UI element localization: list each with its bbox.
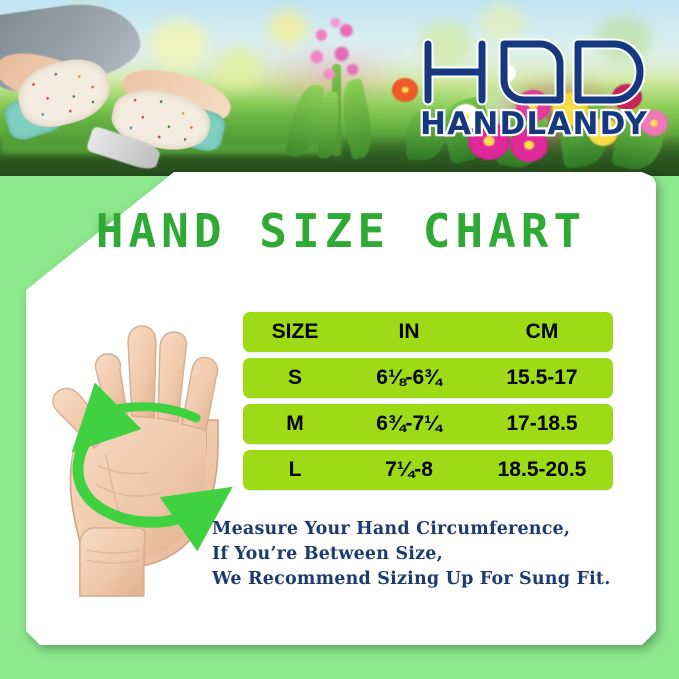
cell-cm: 18.5-20.5 xyxy=(471,458,613,482)
table-row: M 6¾-7¼ 17-18.5 xyxy=(243,404,613,444)
header-in: IN xyxy=(347,320,471,344)
cell-cm: 15.5-17 xyxy=(471,366,613,390)
note-line-1: Measure Your Hand Circumference, xyxy=(212,517,642,542)
note-line-3: We Recommend Sizing Up For Sung Fit. xyxy=(212,567,642,592)
table-row: S 6⅛-6¾ 15.5-17 xyxy=(243,358,613,398)
measurement-note: Measure Your Hand Circumference, If You’… xyxy=(212,517,642,592)
cell-size: S xyxy=(243,366,347,390)
flower-red-1 xyxy=(392,78,418,102)
hyacinth-bloom xyxy=(298,18,376,96)
page-title: HAND SIZE CHART xyxy=(26,204,656,258)
header-cm: CM xyxy=(471,320,613,344)
header-banner-image: HANDLANDY xyxy=(0,0,679,176)
cell-in: 6⅛-6¾ xyxy=(347,366,471,390)
cell-size: L xyxy=(243,458,347,482)
table-row: L 7¼-8 18.5-20.5 xyxy=(243,450,613,490)
table-header-row: SIZE IN CM xyxy=(243,312,613,352)
cell-in: 6¾-7¼ xyxy=(347,412,471,436)
page-root: HANDLANDY HAND SIZE CHART xyxy=(0,0,679,679)
size-chart-card: HAND SIZE CHART xyxy=(26,172,656,645)
cell-size: M xyxy=(243,412,347,436)
size-table: SIZE IN CM S 6⅛-6¾ 15.5-17 M 6¾-7¼ 17-18… xyxy=(243,312,613,496)
bokeh-1 xyxy=(150,20,208,68)
cell-cm: 17-18.5 xyxy=(471,412,613,436)
bokeh-2 xyxy=(215,48,261,88)
header-size: SIZE xyxy=(243,320,347,344)
logo-wordmark-text: HANDLANDY xyxy=(420,106,648,142)
brand-logo[interactable]: HANDLANDY xyxy=(418,36,650,142)
cell-in: 7¼-8 xyxy=(347,458,471,482)
note-line-2: If You’re Between Size, xyxy=(212,542,642,567)
